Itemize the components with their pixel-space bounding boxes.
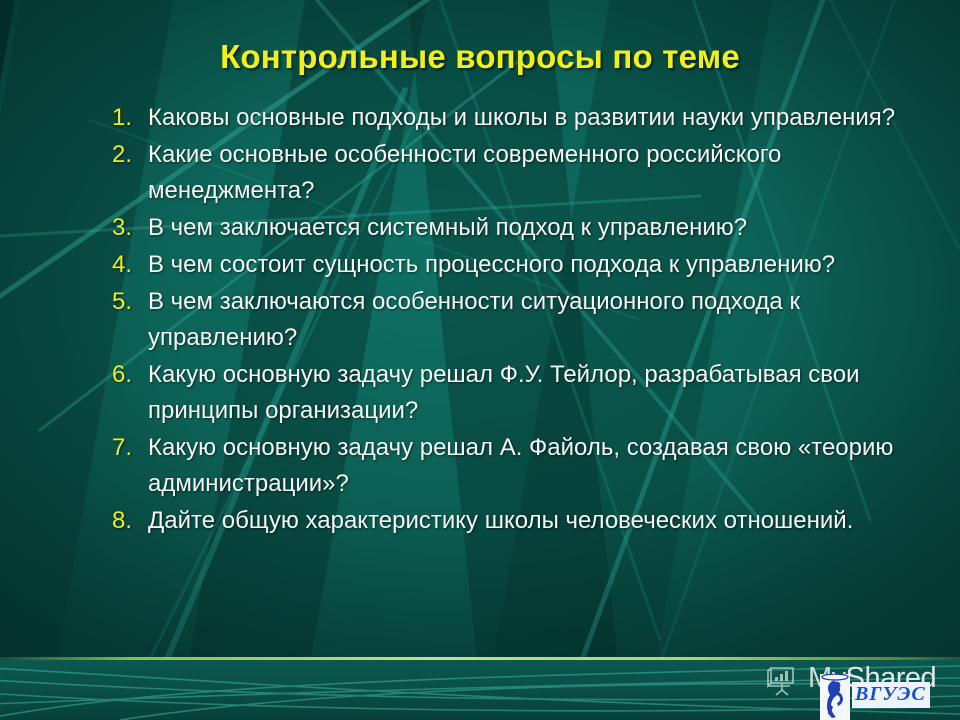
presentation-board-icon xyxy=(766,664,802,698)
list-item: 2. Какие основные особенности современно… xyxy=(84,137,914,209)
list-item: 8. Дайте общую характеристику школы чело… xyxy=(84,503,914,539)
list-item-text: Какую основную задачу решал А. Файоль, с… xyxy=(148,430,914,502)
list-item: 5. В чем заключаются особенности ситуаци… xyxy=(84,284,914,356)
list-item: 3. В чем заключается системный подход к … xyxy=(84,210,914,246)
list-item-text: Какую основную задачу решал Ф.У. Тейлор,… xyxy=(148,357,914,429)
list-item: 1. Каковы основные подходы и школы в раз… xyxy=(84,100,914,136)
list-item-number: 6. xyxy=(84,357,148,393)
vgues-emblem-icon xyxy=(820,674,850,720)
list-item: 6. Какую основную задачу решал Ф.У. Тейл… xyxy=(84,357,914,429)
list-item-text: Дайте общую характеристику школы человеч… xyxy=(148,503,914,539)
list-item: 4. В чем состоит сущность процессного по… xyxy=(84,247,914,283)
vgues-wordmark-text: ВГУЭС xyxy=(855,683,926,706)
page-title: Контрольные вопросы по теме xyxy=(0,38,960,76)
list-item-number: 2. xyxy=(84,137,148,173)
list-item-number: 5. xyxy=(84,284,148,320)
list-item-text: В чем заключаются особенности ситуационн… xyxy=(148,284,914,356)
list-item: 7. Какую основную задачу решал А. Файоль… xyxy=(84,430,914,502)
list-item-number: 3. xyxy=(84,210,148,246)
presentation-slide: Контрольные вопросы по теме 1. Каковы ос… xyxy=(0,0,960,720)
list-item-text: Какие основные особенности современного … xyxy=(148,137,914,209)
list-item-number: 8. xyxy=(84,503,148,539)
vgues-wordmark: ВГУЭС xyxy=(852,682,930,708)
watermark: MyShared ВГУЭС xyxy=(766,660,960,720)
list-item-text: Каковы основные подходы и школы в развит… xyxy=(148,100,914,136)
list-item-number: 1. xyxy=(84,100,148,136)
list-item-text: В чем состоит сущность процессного подхо… xyxy=(148,247,914,283)
list-item-number: 7. xyxy=(84,430,148,466)
list-item-text: В чем заключается системный подход к упр… xyxy=(148,210,914,246)
question-list: 1. Каковы основные подходы и школы в раз… xyxy=(84,100,914,540)
list-item-number: 4. xyxy=(84,247,148,283)
